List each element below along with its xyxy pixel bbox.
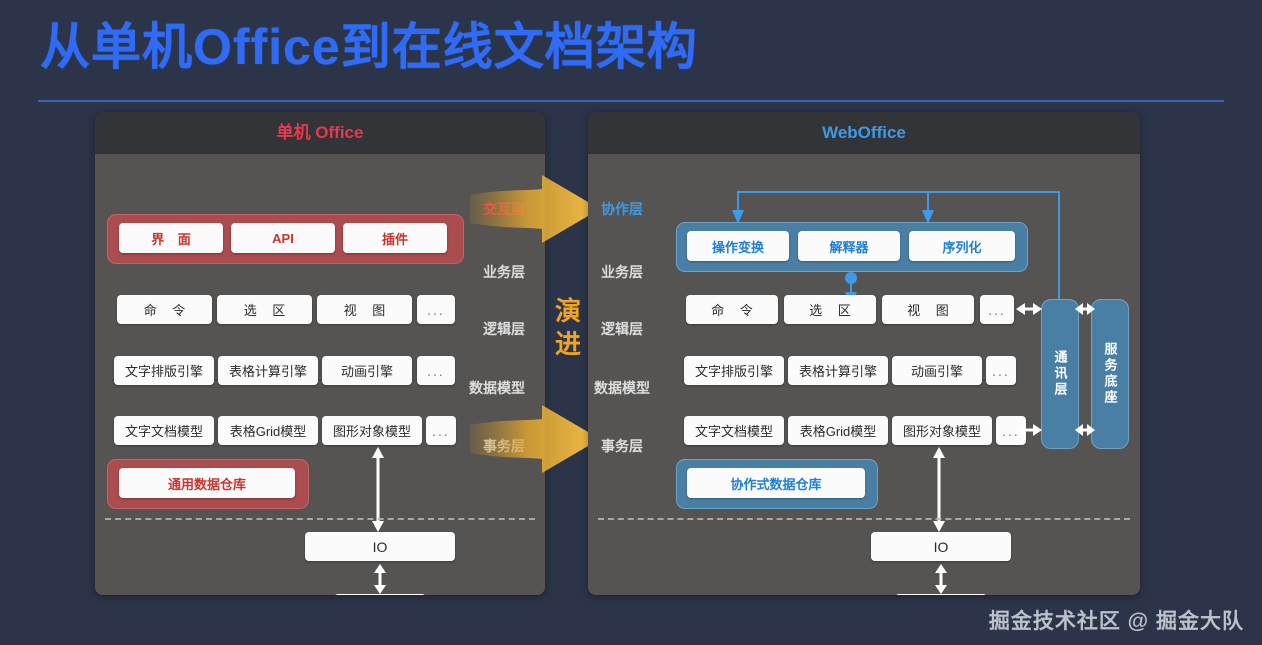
slide-root: 从单机Office到在线文档架构 单机 Office 界 面 API 插件 命 … — [0, 0, 1262, 645]
right-arrow-comm-service-top — [1075, 302, 1095, 316]
right-node-text-layout-engine[interactable]: 文字排版引擎 — [684, 356, 784, 385]
left-layer-label-datamodel: 数据模型 — [469, 378, 525, 398]
left-node-business-more[interactable]: ... — [417, 295, 455, 324]
right-layer-label-datamodel: 数据模型 — [594, 378, 650, 398]
right-node-shape-object-model[interactable]: 图形对象模型 — [892, 416, 992, 445]
right-node-interpreter[interactable]: 解释器 — [798, 231, 900, 261]
left-node-command[interactable]: 命 令 — [117, 295, 212, 324]
right-file-shape[interactable]: 文件 — [895, 594, 987, 595]
right-layer-label-business: 业务层 — [601, 262, 643, 282]
right-bar-service-base-label: 服务底座 — [1101, 342, 1120, 406]
right-arrow-io-file — [934, 564, 948, 594]
left-node-shape-object-model[interactable]: 图形对象模型 — [322, 416, 422, 445]
right-layer-label-logic: 逻辑层 — [601, 319, 643, 339]
panel-right-body: 操作变换 解释器 序列化 命 令 选 区 视 图 ... 文字排版引擎 表格计算… — [588, 154, 1140, 595]
left-node-text-layout-engine[interactable]: 文字排版引擎 — [114, 356, 214, 385]
left-node-generic-warehouse[interactable]: 通用数据仓库 — [119, 468, 295, 498]
title-divider — [38, 100, 1224, 102]
left-node-table-calc-engine[interactable]: 表格计算引擎 — [218, 356, 318, 385]
right-layer-label-collaboration: 协作层 — [601, 199, 643, 219]
right-layer-label-transaction: 事务层 — [601, 436, 643, 456]
right-node-collab-warehouse[interactable]: 协作式数据仓库 — [687, 468, 865, 498]
left-node-animation-engine[interactable]: 动画引擎 — [322, 356, 412, 385]
right-node-animation-engine[interactable]: 动画引擎 — [892, 356, 982, 385]
left-layer-label-logic: 逻辑层 — [483, 319, 525, 339]
left-node-datamodel-more[interactable]: ... — [426, 416, 456, 445]
right-node-selection[interactable]: 选 区 — [784, 295, 876, 324]
page-title: 从单机Office到在线文档架构 — [40, 20, 698, 75]
right-node-operational-transform[interactable]: 操作变换 — [687, 231, 789, 261]
right-node-logic-more[interactable]: ... — [986, 356, 1016, 385]
right-bar-comm-layer[interactable]: 通讯层 — [1041, 299, 1079, 449]
right-arrow-datamodel-comm — [1016, 423, 1042, 437]
left-dashed-separator — [105, 518, 535, 520]
right-bar-comm-layer-label: 通讯层 — [1051, 350, 1070, 398]
right-node-io[interactable]: IO — [871, 532, 1011, 561]
right-arrow-business-comm — [1016, 302, 1042, 316]
right-node-table-grid-model[interactable]: 表格Grid模型 — [788, 416, 888, 445]
right-node-table-calc-engine[interactable]: 表格计算引擎 — [788, 356, 888, 385]
panel-left-header: 单机 Office — [95, 112, 545, 154]
left-node-io[interactable]: IO — [305, 532, 455, 561]
panel-weboffice: WebOffice 操作变换 解释器 序列化 命 令 — [588, 112, 1140, 595]
right-node-view[interactable]: 视 图 — [882, 295, 974, 324]
left-node-text-doc-model[interactable]: 文字文档模型 — [114, 416, 214, 445]
panel-right-header: WebOffice — [588, 112, 1140, 154]
left-node-interface[interactable]: 界 面 — [119, 223, 223, 253]
right-node-text-doc-model[interactable]: 文字文档模型 — [684, 416, 784, 445]
right-node-business-more[interactable]: ... — [980, 295, 1014, 324]
left-file-shape[interactable]: 文件 — [334, 594, 426, 595]
left-node-api[interactable]: API — [231, 223, 335, 253]
left-node-selection[interactable]: 选 区 — [217, 295, 312, 324]
gold-arrow-top — [470, 175, 600, 243]
left-node-table-grid-model[interactable]: 表格Grid模型 — [218, 416, 318, 445]
right-node-command[interactable]: 命 令 — [686, 295, 778, 324]
left-node-view[interactable]: 视 图 — [317, 295, 412, 324]
right-node-serialization[interactable]: 序列化 — [909, 231, 1015, 261]
left-node-logic-more[interactable]: ... — [417, 356, 455, 385]
left-arrow-io-file — [373, 564, 387, 594]
left-node-plugin[interactable]: 插件 — [343, 223, 447, 253]
left-layer-label-business: 业务层 — [483, 262, 525, 282]
right-dashed-separator — [598, 518, 1130, 520]
watermark: 掘金技术社区 @ 掘金大队 — [989, 605, 1244, 635]
right-bar-service-base[interactable]: 服务底座 — [1091, 299, 1129, 449]
right-arrow-comm-service-bottom — [1075, 423, 1095, 437]
gold-arrow-bottom — [470, 405, 600, 473]
evolution-label: 演进 — [551, 295, 585, 360]
